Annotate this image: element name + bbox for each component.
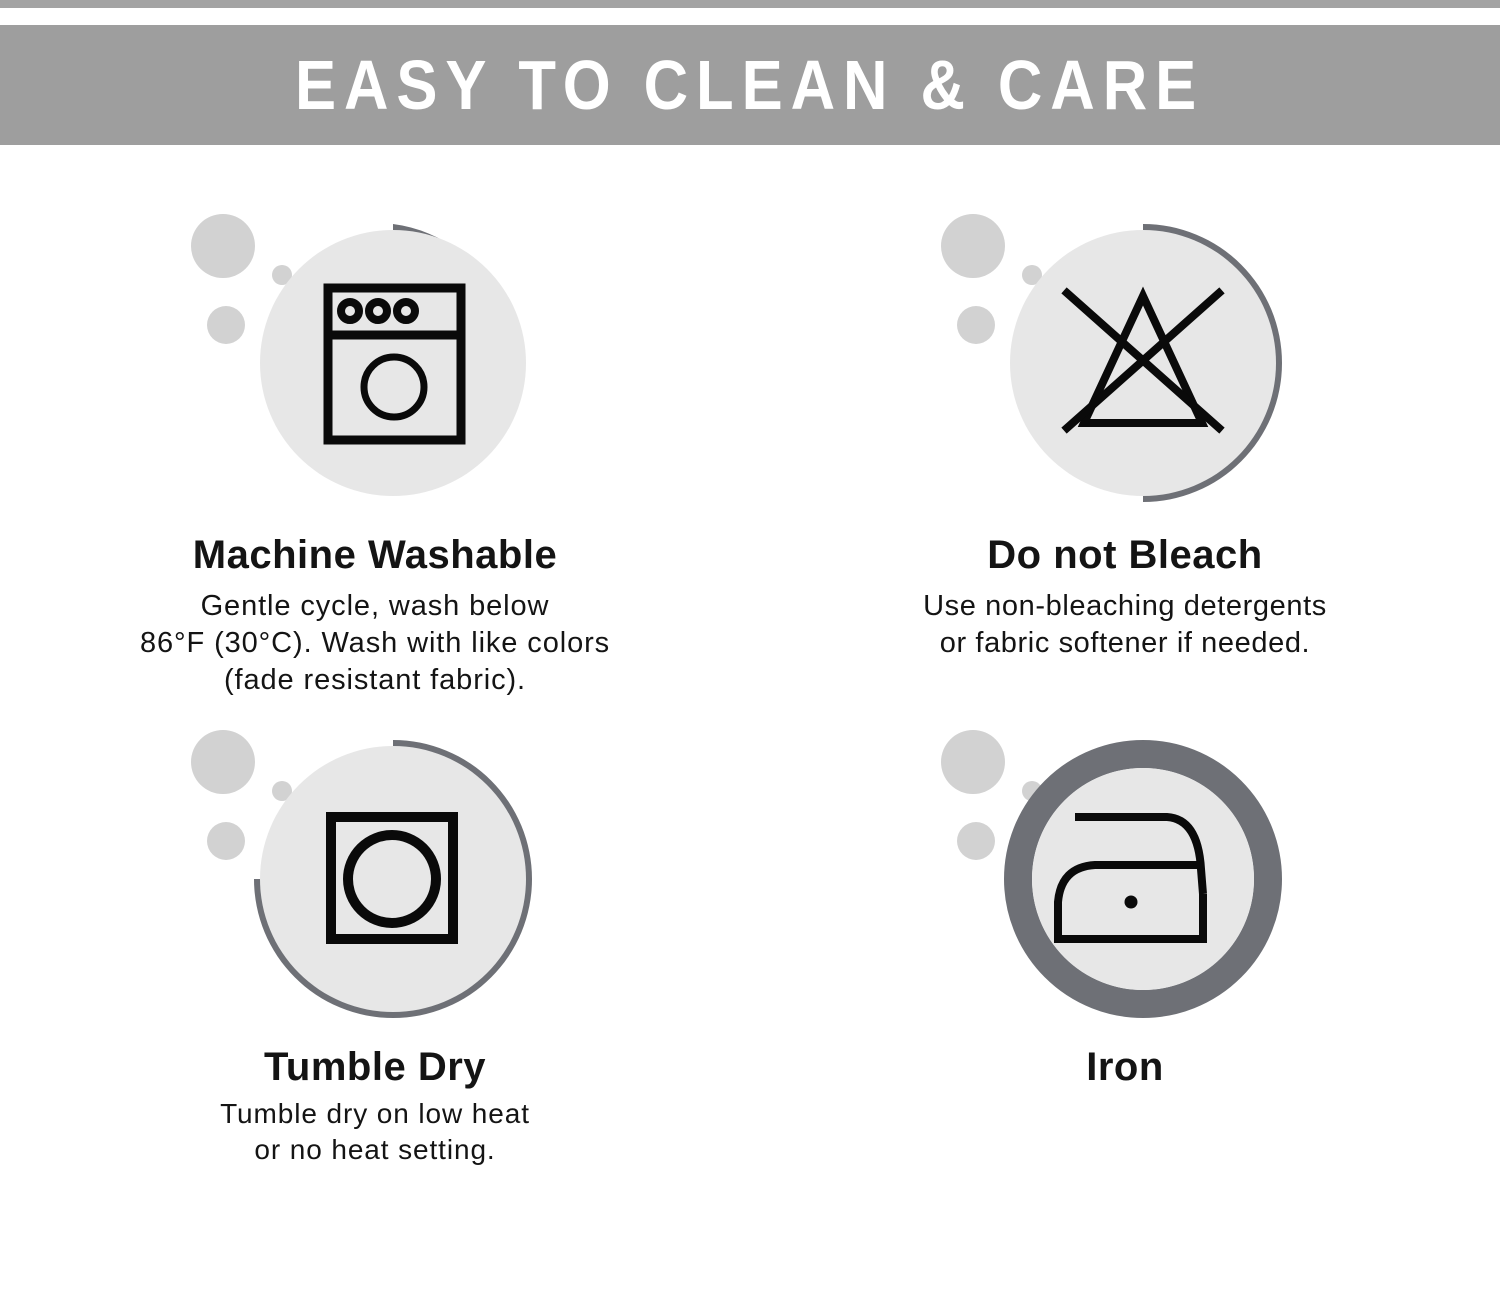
card-description: Use non-bleaching detergents or fabric s…	[923, 588, 1327, 662]
page-title: EASY TO CLEAN & CARE	[295, 50, 1204, 120]
care-card-tumble-dry: Tumble Dry Tumble dry on low heat or no …	[0, 699, 750, 1168]
tumble-dry-icon	[165, 699, 585, 1044]
top-rule	[0, 0, 1500, 8]
care-card-machine-washable: Machine Washable Gentle cycle, wash belo…	[0, 183, 750, 699]
care-card-iron: Iron	[750, 699, 1500, 1168]
do-not-bleach-badge	[915, 183, 1335, 528]
iron-icon	[915, 699, 1335, 1044]
tumble-dry-badge	[165, 699, 585, 1044]
card-description: Gentle cycle, wash below 86°F (30°C). Wa…	[140, 588, 610, 699]
washing-machine-icon	[165, 183, 585, 528]
card-heading: Do not Bleach	[987, 532, 1262, 578]
card-heading: Machine Washable	[193, 532, 557, 578]
header-banner: EASY TO CLEAN & CARE	[0, 25, 1500, 145]
header-gap	[0, 8, 1500, 25]
do-not-bleach-icon	[915, 183, 1335, 528]
care-card-do-not-bleach: Do not Bleach Use non-bleaching detergen…	[750, 183, 1500, 699]
care-instructions-grid: Machine Washable Gentle cycle, wash belo…	[0, 145, 1500, 1168]
card-description: Tumble dry on low heat or no heat settin…	[220, 1096, 530, 1168]
machine-washable-badge	[165, 183, 585, 528]
iron-badge	[915, 699, 1335, 1044]
card-heading: Iron	[1086, 1044, 1164, 1090]
card-heading: Tumble Dry	[264, 1044, 486, 1090]
